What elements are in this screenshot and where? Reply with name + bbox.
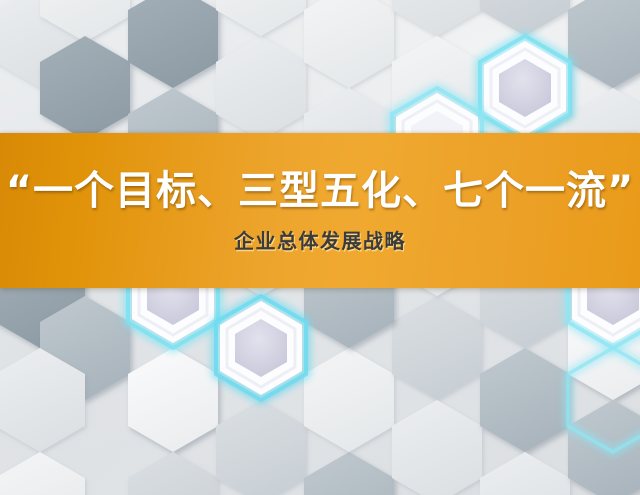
slide-subtitle: 企业总体发展战略 [234,229,406,253]
slide-main-title: “一个目标、三型五化、七个一流” [6,169,635,213]
title-banner: “一个目标、三型五化、七个一流” 企业总体发展战略 [0,133,640,288]
title-slide: “一个目标、三型五化、七个一流” 企业总体发展战略 [0,0,640,495]
